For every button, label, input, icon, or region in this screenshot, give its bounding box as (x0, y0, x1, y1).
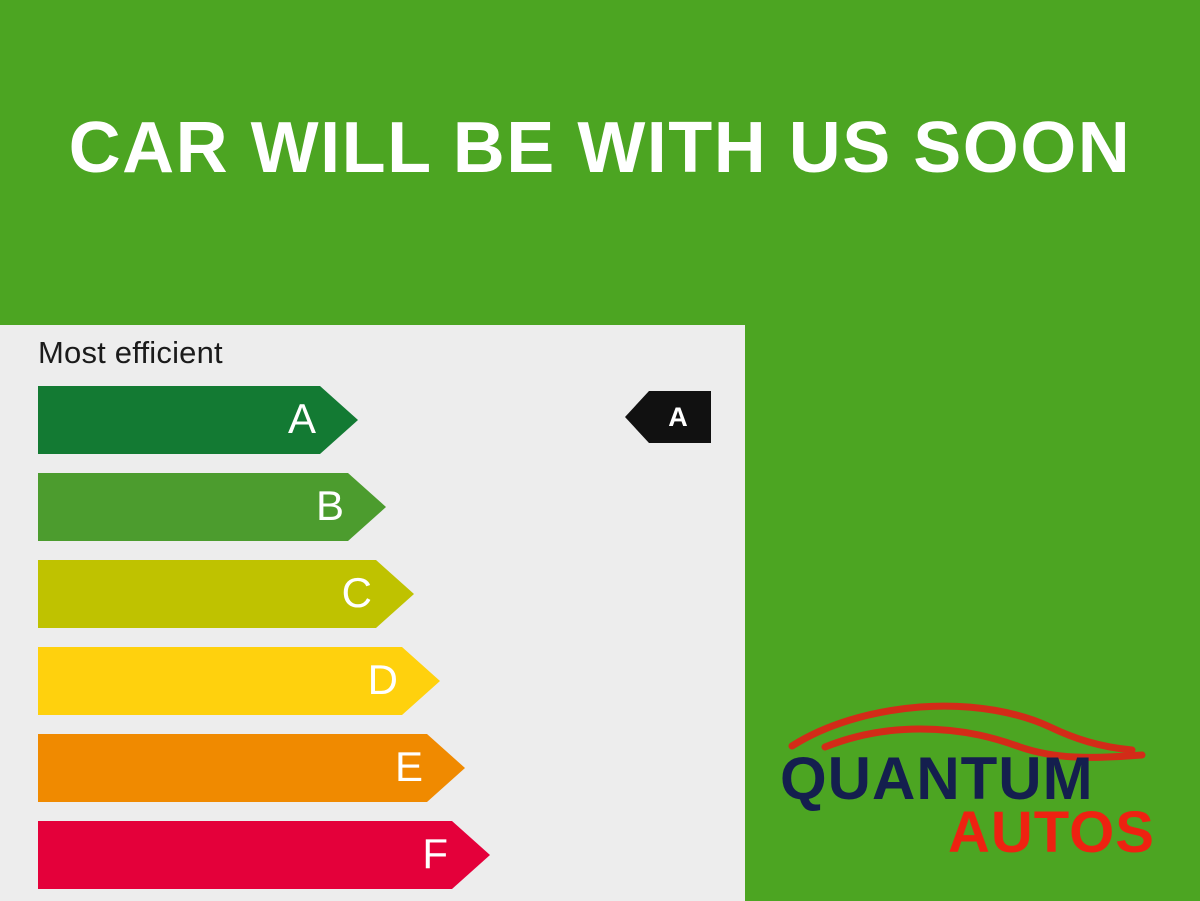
efficiency-band-letter: C (342, 572, 372, 614)
current-rating-letter: A (668, 402, 688, 433)
efficiency-band-letter: E (395, 746, 423, 788)
efficiency-band-e: E (38, 734, 465, 802)
efficiency-band-c: C (38, 560, 414, 628)
efficiency-band-letter: B (316, 485, 344, 527)
page-headline: CAR WILL BE WITH US SOON (0, 112, 1200, 184)
quantum-autos-logo: QUANTUM AUTOS (770, 695, 1170, 870)
efficiency-band-f: F (38, 821, 490, 889)
efficiency-band-d: D (38, 647, 440, 715)
logo-secondary-text: AUTOS (948, 800, 1155, 865)
promo-card: CAR WILL BE WITH US SOON Most efficient … (0, 0, 1200, 901)
efficiency-band-letter: D (368, 659, 398, 701)
efficiency-band-a: A (38, 386, 358, 454)
efficiency-band-b: B (38, 473, 386, 541)
efficiency-band-letter: A (288, 398, 316, 440)
efficiency-band-letter: F (422, 833, 448, 875)
